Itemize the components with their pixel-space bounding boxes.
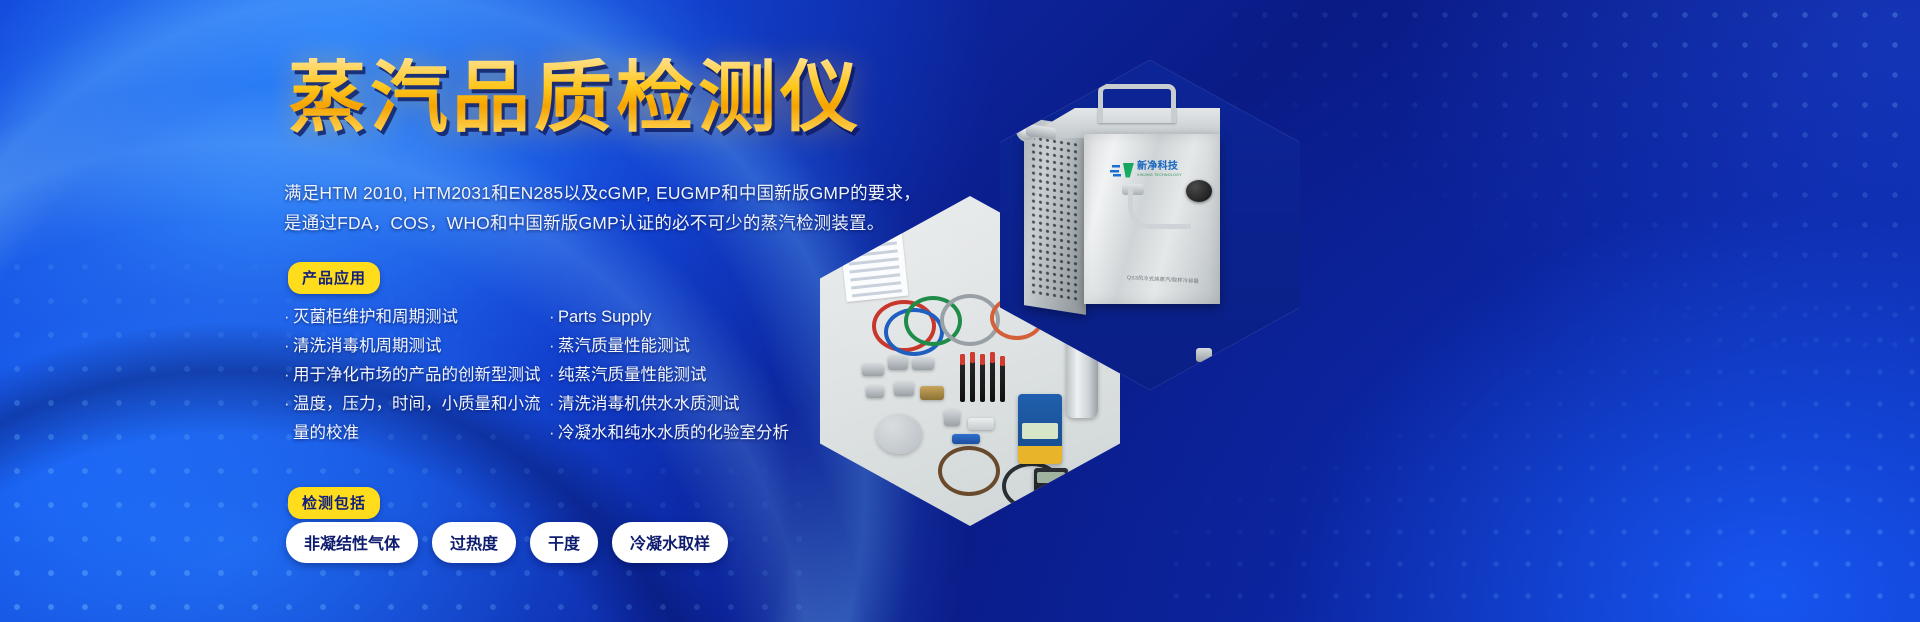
list-item: ·温度，压力，时间，小质量和小流	[284, 390, 549, 419]
pipe-fitting	[920, 386, 944, 400]
pipe-fitting	[862, 364, 884, 376]
bullet-dot: ·	[284, 332, 293, 361]
bullet-dot: ·	[549, 332, 558, 361]
meter-screen	[1022, 423, 1059, 438]
pipe-fitting	[888, 356, 908, 370]
cable-coil-brown	[938, 446, 1000, 496]
probe-rod	[970, 352, 975, 402]
bullet-dot: ·	[284, 303, 293, 332]
bullet-dot: ·	[284, 361, 293, 390]
brand-wordmark: 新净科技 XINJING TECHNOLOGY	[1137, 162, 1182, 177]
device-ventilation-grill	[1030, 134, 1080, 302]
bullet-dot: ·	[284, 390, 293, 419]
list-item: ·冷凝水和纯水水质的化验室分析	[549, 419, 789, 448]
meter-body-band	[1018, 446, 1062, 464]
pipe-fitting	[944, 410, 960, 426]
bullet-dot: ·	[549, 390, 558, 419]
list-item-label: 量的校准	[293, 419, 549, 448]
device-photo: 新净科技 XINJING TECHNOLOGY QS3风冷式纯蒸汽/取样冷却器	[1000, 60, 1300, 390]
list-item-label: 纯蒸汽质量性能测试	[558, 361, 789, 390]
measurement-tag-list: 非凝结性气体 过热度 干度 冷凝水取样	[286, 522, 728, 563]
measurement-tag[interactable]: 冷凝水取样	[612, 522, 728, 563]
pipe-fitting	[968, 418, 994, 430]
applications-column-right: ·Parts Supply ·蒸汽质量性能测试 ·纯蒸汽质量性能测试 ·清洗消毒…	[549, 303, 789, 448]
halftone-dots-top-right	[1220, 0, 1920, 360]
pipe-fitting	[894, 382, 914, 396]
pipe-fitting	[866, 386, 884, 398]
list-item: ·清洗消毒机周期测试	[284, 332, 549, 361]
probe-rod	[960, 354, 965, 402]
measurements-badge: 检测包括	[288, 487, 380, 519]
list-item-continuation: 量的校准	[284, 419, 549, 448]
list-item-label: 冷凝水和纯水水质的化验室分析	[558, 419, 789, 448]
bullet-dot: ·	[549, 419, 558, 448]
measurement-tag[interactable]: 干度	[530, 522, 598, 563]
pipe-fitting	[952, 434, 980, 444]
page-title: 蒸汽品质检测仪	[288, 58, 862, 136]
list-item-label: 清洗消毒机周期测试	[293, 332, 549, 361]
device-brand-logo: 新净科技 XINJING TECHNOLOGY	[1110, 160, 1196, 180]
applications-column-left: ·灭菌柜维护和周期测试 ·清洗消毒机周期测试 ·用于净化市场的产品的创新型测试 …	[284, 303, 549, 448]
device-carry-handle	[1098, 84, 1176, 123]
brand-mark-icon	[1110, 163, 1134, 178]
list-item-label: 蒸汽质量性能测试	[558, 332, 789, 361]
list-item: ·清洗消毒机供水水质测试	[549, 390, 789, 419]
digital-meter	[1018, 394, 1062, 464]
list-item-label: 温度，压力，时间，小质量和小流	[293, 390, 549, 419]
list-item-label: 灭菌柜维护和周期测试	[293, 303, 549, 332]
list-item-label: 用于净化市场的产品的创新型测试	[293, 361, 549, 390]
probe-rod	[990, 352, 995, 402]
device-hexagon: 新净科技 XINJING TECHNOLOGY QS3风冷式纯蒸汽/取样冷却器	[1000, 60, 1300, 390]
list-item: ·Parts Supply	[549, 303, 789, 332]
handheld-calculator	[1034, 468, 1068, 520]
brand-name-en: XINJING TECHNOLOGY	[1137, 174, 1182, 178]
list-item-label: 清洗消毒机供水水质测试	[558, 390, 789, 419]
list-item: ·蒸汽质量性能测试	[549, 332, 789, 361]
device-outlet-spout	[1128, 188, 1191, 229]
device-caster	[1070, 358, 1082, 376]
measurement-tag[interactable]: 过热度	[432, 522, 516, 563]
bullet-dot: ·	[549, 361, 558, 390]
list-item-label: Parts Supply	[558, 303, 789, 332]
pipe-fitting	[912, 358, 934, 370]
applications-badge: 产品应用	[288, 262, 380, 294]
device-valve-knob	[1186, 180, 1212, 202]
list-item: ·灭菌柜维护和周期测试	[284, 303, 549, 332]
measurement-tag[interactable]: 非凝结性气体	[286, 522, 418, 563]
device-foot	[1196, 348, 1212, 362]
probe-rod	[980, 354, 985, 402]
bullet-dot: ·	[549, 303, 558, 332]
filter-disc	[876, 414, 922, 454]
brand-name-cn: 新净科技	[1137, 162, 1182, 172]
product-banner: 蒸汽品质检测仪 满足HTM 2010, HTM2031和EN285以及cGMP,…	[0, 0, 1920, 622]
list-item: ·纯蒸汽质量性能测试	[549, 361, 789, 390]
spec-sheet	[838, 209, 909, 302]
list-item: ·用于净化市场的产品的创新型测试	[284, 361, 549, 390]
calculator-screen	[1037, 472, 1064, 482]
